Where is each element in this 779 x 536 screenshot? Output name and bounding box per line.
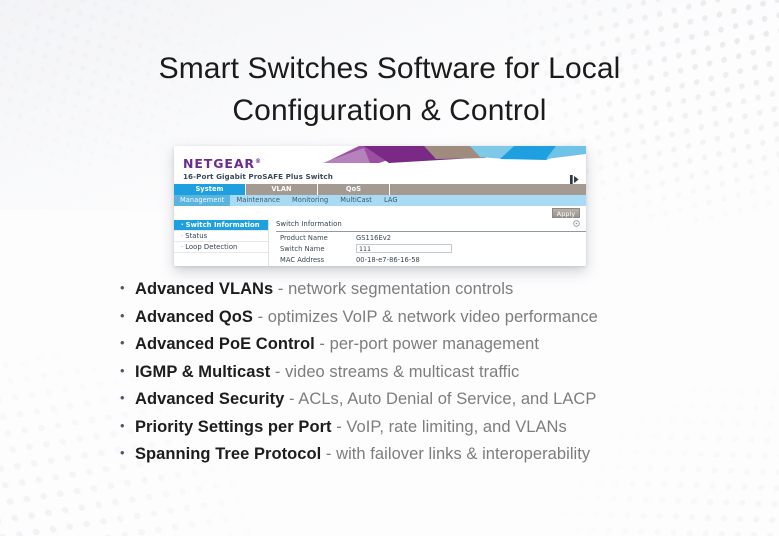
tab-qos[interactable]: QoS — [318, 184, 390, 195]
field-label-product-name: Product Name — [276, 234, 356, 242]
feature-list: • Advanced VLANs - network segmentation … — [120, 279, 740, 472]
list-item-text: Spanning Tree Protocol - with failover l… — [135, 444, 590, 464]
subtab-monitoring[interactable]: Monitoring — [286, 195, 334, 206]
bullet-marker-icon: • — [120, 391, 135, 404]
slide-canvas: Smart Switches Software for Local Config… — [0, 0, 779, 536]
logout-icon[interactable] — [570, 175, 579, 184]
list-item-lead: IGMP & Multicast — [135, 363, 270, 381]
bullet-dot-icon: · — [181, 232, 183, 240]
list-item: • Advanced PoE Control - per-port power … — [120, 334, 740, 362]
field-label-switch-name: Switch Name — [276, 245, 356, 253]
main-tab-bar[interactable]: System VLAN QoS — [174, 184, 586, 195]
slide-title: Smart Switches Software for Local Config… — [0, 48, 779, 132]
field-row-product-name: Product Name GS116Ev2 — [276, 232, 586, 243]
field-label-mac-address: MAC Address — [276, 256, 356, 264]
bullet-marker-icon: • — [120, 309, 135, 322]
slide-title-line-1: Smart Switches Software for Local — [0, 48, 779, 90]
list-item-lead: Spanning Tree Protocol — [135, 445, 321, 463]
leftnav-item-status[interactable]: ·Status — [174, 231, 268, 242]
list-item: • Priority Settings per Port - VoIP, rat… — [120, 417, 740, 445]
field-row-switch-name: Switch Name 111 — [276, 243, 586, 254]
netgear-logo-text: NETGEAR — [183, 156, 255, 171]
list-item-rest: - optimizes VoIP & network video perform… — [253, 308, 598, 326]
bullet-marker-icon: • — [120, 336, 135, 349]
leftnav-label-switch-information: Switch Information — [186, 221, 260, 229]
panel-content: Switch Information Product Name GS116Ev2… — [268, 219, 586, 266]
bullet-marker-icon: • — [120, 446, 135, 459]
list-item: • IGMP & Multicast - video streams & mul… — [120, 362, 740, 390]
list-item: • Advanced VLANs - network segmentation … — [120, 279, 740, 307]
subtab-lag[interactable]: LAG — [378, 195, 404, 206]
leftnav-label-loop-detection: Loop Detection — [185, 243, 237, 251]
list-item-text: IGMP & Multicast - video streams & multi… — [135, 362, 519, 382]
list-item-lead: Advanced PoE Control — [135, 335, 315, 353]
subtab-maintenance[interactable]: Maintenance — [230, 195, 286, 206]
brand-block: NETGEAR® 16-Port Gigabit ProSAFE Plus Sw… — [183, 155, 333, 181]
subtab-multicast[interactable]: MultiCast — [334, 195, 378, 206]
bullet-dot-icon: · — [181, 243, 183, 251]
tab-system[interactable]: System — [174, 184, 246, 195]
bullet-marker-icon: • — [120, 364, 135, 377]
list-item-lead: Advanced QoS — [135, 308, 253, 326]
switch-model-label: 16-Port Gigabit ProSAFE Plus Switch — [183, 172, 333, 181]
list-item-lead: Advanced Security — [135, 390, 284, 408]
list-item-lead: Advanced VLANs — [135, 280, 273, 298]
list-item: • Spanning Tree Protocol - with failover… — [120, 444, 740, 472]
subtab-management[interactable]: Management — [174, 195, 230, 206]
list-item-rest: - per-port power management — [315, 335, 539, 353]
list-item-rest: - VoIP, rate limiting, and VLANs — [332, 418, 567, 436]
slide-title-line-2: Configuration & Control — [0, 90, 779, 132]
left-nav[interactable]: ·Switch Information ·Status ·Loop Detect… — [174, 219, 268, 266]
panel-title: Switch Information — [276, 219, 586, 232]
sub-nav-bar[interactable]: Management Maintenance Monitoring MultiC… — [174, 195, 586, 206]
leftnav-item-switch-information[interactable]: ·Switch Information — [174, 220, 268, 231]
switch-admin-ui-screenshot: NETGEAR® 16-Port Gigabit ProSAFE Plus Sw… — [174, 146, 586, 266]
list-item: • Advanced QoS - optimizes VoIP & networ… — [120, 307, 740, 335]
switch-name-input[interactable]: 111 — [356, 244, 452, 253]
help-icon[interactable] — [573, 220, 580, 227]
list-item-text: Advanced VLANs - network segmentation co… — [135, 279, 513, 299]
list-item-rest: - video streams & multicast traffic — [270, 363, 519, 381]
bullet-dot-icon: · — [181, 221, 184, 229]
trademark-symbol: ® — [255, 158, 261, 165]
bullet-marker-icon: • — [120, 419, 135, 432]
list-item: • Advanced Security - ACLs, Auto Denial … — [120, 389, 740, 417]
field-row-mac-address: MAC Address 00-18-e7-86-16-58 — [276, 254, 586, 265]
apply-button[interactable]: Apply — [552, 208, 580, 218]
field-value-mac-address: 00-18-e7-86-16-58 — [356, 256, 420, 264]
list-item-rest: - network segmentation controls — [273, 280, 513, 298]
netgear-logo: NETGEAR® — [183, 155, 333, 170]
list-item-text: Advanced QoS - optimizes VoIP & network … — [135, 307, 598, 327]
leftnav-item-loop-detection[interactable]: ·Loop Detection — [174, 242, 268, 253]
list-item-rest: - with failover links & interoperability — [321, 445, 590, 463]
admin-ui-body: ·Switch Information ·Status ·Loop Detect… — [174, 219, 586, 266]
tab-vlan[interactable]: VLAN — [246, 184, 318, 195]
bullet-marker-icon: • — [120, 281, 135, 294]
list-item-rest: - ACLs, Auto Denial of Service, and LACP — [284, 390, 596, 408]
leftnav-label-status: Status — [185, 232, 207, 240]
list-item-text: Advanced Security - ACLs, Auto Denial of… — [135, 389, 596, 409]
tab-bar-filler — [390, 184, 586, 195]
list-item-lead: Priority Settings per Port — [135, 418, 332, 436]
list-item-text: Priority Settings per Port - VoIP, rate … — [135, 417, 567, 437]
apply-toolbar: Apply — [174, 207, 586, 219]
list-item-text: Advanced PoE Control - per-port power ma… — [135, 334, 539, 354]
field-value-product-name: GS116Ev2 — [356, 234, 391, 242]
